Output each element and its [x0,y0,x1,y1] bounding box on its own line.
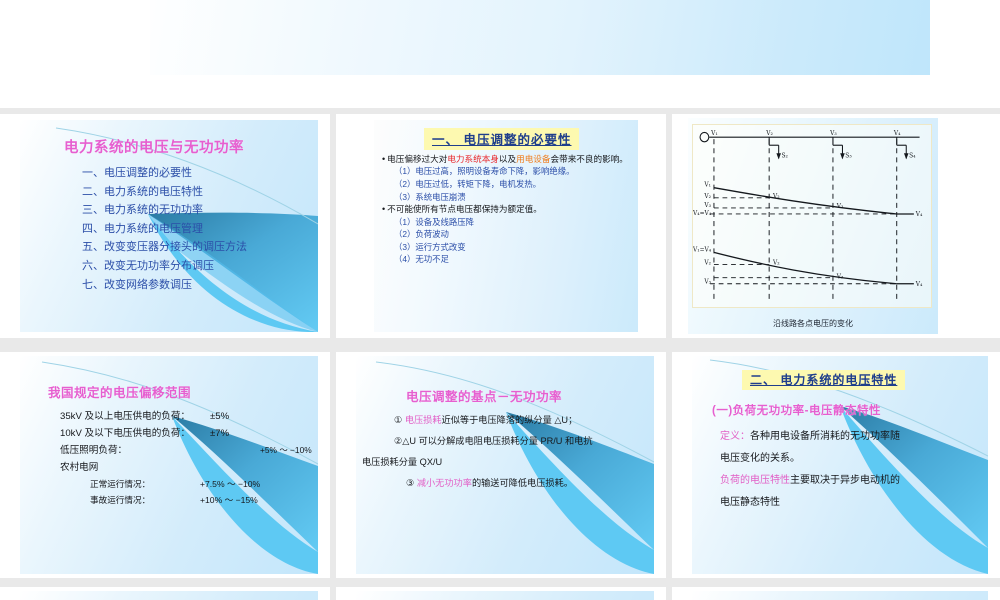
slide-surface: 二、 电力系统的电压特性 (一)负荷无功功率-电压静态特性 定义：各种用电设备所… [672,352,1000,578]
body-item: 负荷的电压特性主要取决于异步电动机的 [720,474,976,488]
svg-text:V₂: V₂ [772,259,780,266]
item-number: ② [394,436,402,446]
voltage-profile-diagram: V₁ V₂ V₃ V₄ S₂ S₃ S₄ V₁ V₂ V₃ V₄=V₄ V₂ [693,125,931,307]
para1-highlight-1: 电力系统本身 [447,154,499,164]
slide-surface: 一、 电压调整的必要性 电压偏移过大对电力系统本身以及用电设备会带来不良的影响。… [336,114,666,338]
slide-thumbnail-3[interactable]: V₁ V₂ V₃ V₄ S₂ S₃ S₄ V₁ V₂ V₃ V₄=V₄ V₂ [672,114,1000,338]
body-item: ②△U 可以分解成电阻电压损耗分量 PR/U 和电抗 [394,435,644,447]
svg-text:V₁=V₄: V₁=V₄ [693,246,712,253]
svg-text:V₄=V₄: V₄=V₄ [693,210,712,217]
row-separator [0,578,1000,587]
item-highlight: 减小无功功率 [417,478,472,488]
row-label: 10kV 及以下电压供电的负荷： [60,428,190,439]
node-droplines [714,139,897,301]
voltage-curve-max-load [714,188,897,214]
slide-surface: 电压调整的基点－无功功率 ① 电压损耗近似等于电压降落的纵分量 △U； ②△U … [336,352,666,578]
list-item: （2）电压过低，转矩下降，电机发热。 [382,179,632,191]
slide-title-wrap: 一、 电压调整的必要性 [424,128,579,150]
row-value: +7.5% ～ −10% [200,476,260,492]
body-item: 电压变化的关系。 [720,452,976,466]
svg-text:V₂: V₂ [765,130,773,137]
item-text: 电压变化的关系。 [720,453,800,464]
slide-thumbnail-partial-9[interactable] [672,587,1000,600]
para1-lead: 电压偏移过大对 [387,154,447,164]
item-text: 主要取决于异步电动机的 [790,475,900,486]
paragraph-1: 电压偏移过大对电力系统本身以及用电设备会带来不良的影响。 [382,154,632,165]
list-row: 10kV 及以下电压供电的负荷： ±7% [60,425,310,442]
list-item: 一、电压调整的必要性 [82,164,247,183]
svg-text:S₂: S₂ [782,152,789,159]
slide-thumbnail-partial-top[interactable] [0,0,1000,108]
item-highlight: 定义： [720,431,750,442]
svg-text:V₂: V₂ [703,193,711,200]
body-item: ③ 减小无功功率的输送可降低电压损耗。 [406,477,644,489]
svg-text:V₄: V₄ [915,281,923,288]
body-item: 定义：各种用电设备所消耗的无功功率随 [720,430,976,444]
svg-text:V₁: V₁ [703,182,711,189]
item-text: 近似等于电压降落的纵分量 △U； [442,415,578,425]
slide-title: 我国规定的电压偏移范围 [48,382,191,401]
item-text: △U 可以分解成电阻电压损耗分量 PR/U 和电抗 [402,436,592,446]
list-row: 事故运行情况： +10% ～ −15% [60,492,310,508]
body-item: ① 电压损耗近似等于电压降落的纵分量 △U； [394,414,644,426]
paragraph-2: 不可能使所有节点电压都保持为额定值。 [382,204,632,215]
figure-caption: 沿线路各点电压的变化 [688,318,938,329]
row-separator [0,338,1000,352]
svg-text:V₂: V₂ [772,193,780,200]
slide-title: 二、 电力系统的电压特性 [742,370,905,390]
svg-text:V₃: V₃ [829,130,837,137]
item-highlight: 电压损耗 [405,415,442,425]
body-item: 电压损耗分量 QX/U [362,456,644,468]
list-row: 35kV 及以上电压供电的负荷： ±5% [60,408,310,425]
item-text: 的输送可降低电压损耗。 [472,478,573,488]
row-label: 农村电网 [60,462,98,473]
diagram-labels: V₁ V₂ V₃ V₄ S₂ S₃ S₄ V₁ V₂ V₃ V₄=V₄ V₂ [693,130,923,288]
para1-highlight-2: 用电设备 [516,154,550,164]
slide-canvas: 电力系统的电压与无功功率 一、电压调整的必要性 二、电力系统的电压特性 三、电力… [20,120,318,332]
list-item: （4）无功不足 [382,254,632,266]
item-number: ① [394,415,402,425]
svg-text:V₂: V₂ [703,259,711,266]
svg-text:V₃: V₃ [703,279,711,286]
slide-title: 电力系统的电压与无功功率 [64,136,244,157]
row-value: +5% ～ −10% [260,442,312,459]
slide-canvas [356,591,654,600]
list-item: 三、电力系统的无功功率 [82,201,247,220]
list-row: 低压照明负荷： +5% ～ −10% [60,442,310,459]
list-item: 七、改变网络参数调压 [82,276,247,295]
slide-grid-page: 电力系统的电压与无功功率 一、电压调整的必要性 二、电力系统的电压特性 三、电力… [0,0,1000,600]
list-item: （3）系统电压崩溃 [382,192,632,204]
slide-title: 一、 电压调整的必要性 [424,128,579,150]
para1-tail: 会带来不良的影响。 [551,154,628,164]
list-item: 五、改变变压器分接头的调压方法 [82,238,247,257]
slide-thumbnail-partial-8[interactable] [336,587,666,600]
item-text: 电压损耗分量 QX/U [362,457,442,467]
para2-text: 不可能使所有节点电压都保持为额定值。 [387,204,542,214]
slide-canvas: 电压调整的基点－无功功率 ① 电压损耗近似等于电压降落的纵分量 △U； ②△U … [356,356,654,574]
slide-canvas: 二、 电力系统的电压特性 (一)负荷无功功率-电压静态特性 定义：各种用电设备所… [692,356,988,574]
svg-text:V₃: V₃ [703,202,711,209]
slide-thumbnail-2[interactable]: 一、 电压调整的必要性 电压偏移过大对电力系统本身以及用电设备会带来不良的影响。… [336,114,666,338]
row-label: 低压照明负荷： [60,445,127,456]
row-value: +10% ～ −15% [200,492,258,508]
list-item: 二、电力系统的电压特性 [82,183,247,202]
row-label: 正常运行情况： [90,479,150,489]
voltage-curve-min-load [714,252,897,283]
list-item: （1）设备及线路压降 [382,217,632,229]
svg-text:V₃: V₃ [836,203,844,210]
row-label: 35kV 及以上电压供电的负荷： [60,411,190,422]
list-item: 四、电力系统的电压管理 [82,220,247,239]
slide-title-wrap: 二、 电力系统的电压特性 [742,370,905,390]
list-item: 六、改变无功功率分布调压 [82,257,247,276]
outline-list: 一、电压调整的必要性 二、电力系统的电压特性 三、电力系统的无功功率 四、电力系… [82,164,247,294]
row-label: 事故运行情况： [90,495,150,505]
slide-body: 电压偏移过大对电力系统本身以及用电设备会带来不良的影响。 （1）电压过高，照明设… [382,154,632,267]
item-text: 各种用电设备所消耗的无功功率随 [750,431,900,442]
slide-canvas: 我国规定的电压偏移范围 35kV 及以上电压供电的负荷： ±5% 10kV 及以… [20,356,318,574]
list-item: （3）运行方式改变 [382,242,632,254]
slide-thumbnail-1[interactable]: 电力系统的电压与无功功率 一、电压调整的必要性 二、电力系统的电压特性 三、电力… [0,114,330,338]
svg-text:V₁: V₁ [710,130,718,137]
figure-frame: V₁ V₂ V₃ V₄ S₂ S₃ S₄ V₁ V₂ V₃ V₄=V₄ V₂ [692,124,932,308]
slide-canvas: 一、 电压调整的必要性 电压偏移过大对电力系统本身以及用电设备会带来不良的影响。… [374,120,638,332]
body-item: 电压静态特性 [720,496,976,510]
row-value: ±7% [210,425,229,442]
item-number: ③ [406,478,414,488]
source-symbol [700,132,709,141]
slide-subtitle: (一)负荷无功功率-电压静态特性 [712,402,881,418]
slide-surface [0,0,1000,108]
slide-canvas [20,591,318,600]
item-highlight: 负荷的电压特性 [720,475,790,486]
slide-thumbnail-partial-7[interactable] [0,587,330,600]
slide-title: 电压调整的基点－无功功率 [406,386,562,405]
list-item: （2）负荷波动 [382,229,632,241]
slide-thumbnail-4[interactable]: 我国规定的电压偏移范围 35kV 及以上电压供电的负荷： ±5% 10kV 及以… [0,352,330,578]
slide-canvas: V₁ V₂ V₃ V₄ S₂ S₃ S₄ V₁ V₂ V₃ V₄=V₄ V₂ [688,118,938,334]
slide-canvas [150,0,930,75]
slide-canvas [692,591,988,600]
svg-text:V₄: V₄ [893,130,901,137]
svg-text:S₃: S₃ [845,152,852,159]
list-item: （1）电压过高，照明设备寿命下降，影响绝缘。 [382,166,632,178]
slide-thumbnail-6[interactable]: 二、 电力系统的电压特性 (一)负荷无功功率-电压静态特性 定义：各种用电设备所… [672,352,1000,578]
svg-text:V₄: V₄ [915,211,923,218]
slide-thumbnail-5[interactable]: 电压调整的基点－无功功率 ① 电压损耗近似等于电压降落的纵分量 △U； ②△U … [336,352,666,578]
svg-text:S₄: S₄ [909,152,916,159]
slide-body: ① 电压损耗近似等于电压降落的纵分量 △U； ②△U 可以分解成电阻电压损耗分量… [394,414,644,498]
para1-mid: 以及 [499,154,516,164]
svg-text:V₃: V₃ [836,274,844,281]
list-row: 正常运行情况： +7.5% ～ −10% [60,476,310,492]
slide-surface: V₁ V₂ V₃ V₄ S₂ S₃ S₄ V₁ V₂ V₃ V₄=V₄ V₂ [672,114,1000,338]
item-text: 电压静态特性 [720,497,780,508]
deviation-list: 35kV 及以上电压供电的负荷： ±5% 10kV 及以下电压供电的负荷： ±7… [60,408,310,508]
list-row: 农村电网 [60,459,310,476]
row-value: ±5% [210,408,229,425]
slide-surface: 我国规定的电压偏移范围 35kV 及以上电压供电的负荷： ±5% 10kV 及以… [0,352,330,578]
slide-body: 定义：各种用电设备所消耗的无功功率随 电压变化的关系。 负荷的电压特性主要取决于… [720,430,976,518]
slide-surface: 电力系统的电压与无功功率 一、电压调整的必要性 二、电力系统的电压特性 三、电力… [0,114,330,338]
